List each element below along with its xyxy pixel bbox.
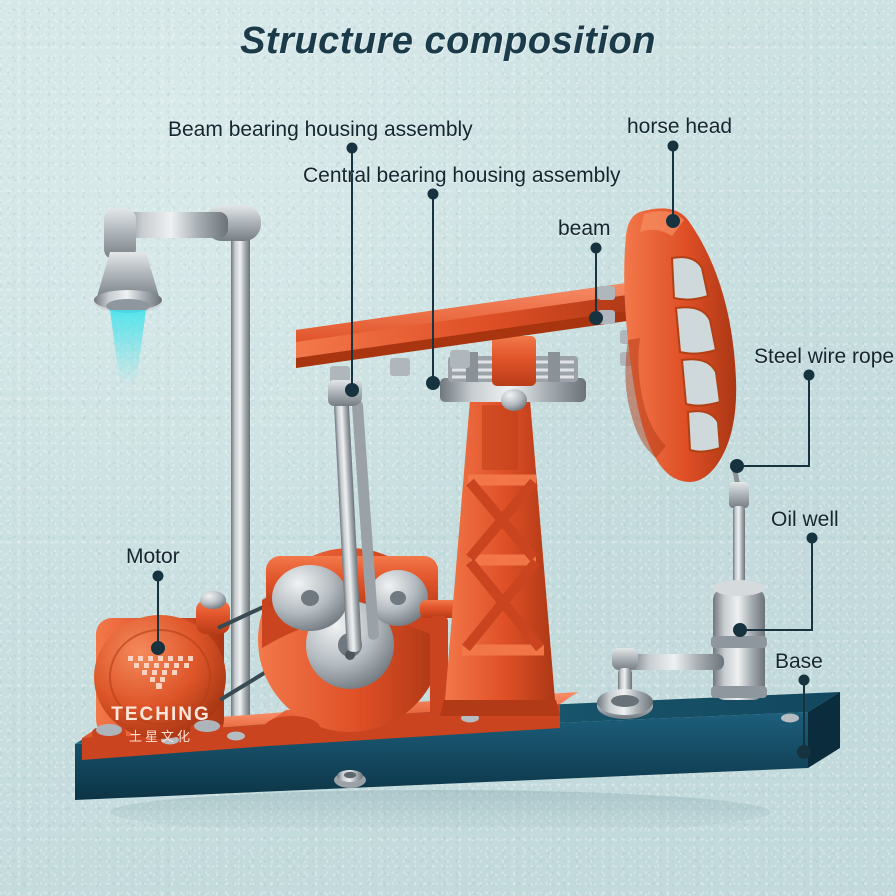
brand-name-cn: 土星文化 xyxy=(106,726,216,745)
oil-well xyxy=(597,580,767,719)
label-beam: beam xyxy=(558,217,611,241)
brand-name: TECHING xyxy=(106,704,216,726)
label-horse-head: horse head xyxy=(627,115,732,139)
infographic-canvas: Structure composition Beam bearing housi… xyxy=(0,0,896,896)
label-base: Base xyxy=(775,650,823,674)
steel-wire-rope xyxy=(729,462,749,590)
page-title: Structure composition xyxy=(0,20,896,63)
label-beam-bearing-housing-assembly: Beam bearing housing assembly xyxy=(168,118,473,142)
label-steel-wire-rope: Steel wire rope xyxy=(754,345,894,369)
label-oil-well: Oil well xyxy=(771,508,839,532)
central-bearing-housing-assembly xyxy=(440,336,586,411)
samson-post xyxy=(440,400,560,716)
horse-head xyxy=(624,208,736,482)
label-motor: Motor xyxy=(126,545,180,569)
label-central-bearing-housing-assembly: Central bearing housing assembly xyxy=(303,164,621,188)
